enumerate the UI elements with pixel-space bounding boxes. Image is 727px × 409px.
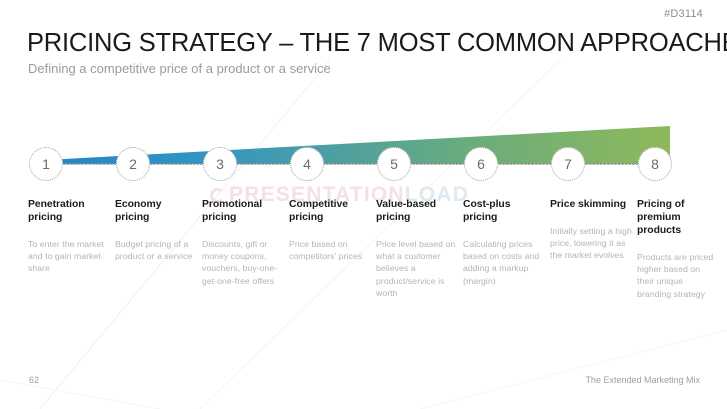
step-column-3: Promotional pricing Discounts, gift or m…: [202, 198, 284, 287]
step-number-3: 3: [216, 156, 224, 172]
step-circle-7[interactable]: 7: [551, 147, 585, 181]
step-column-4: Competitive pricing Price based on compe…: [289, 198, 371, 262]
step-circle-6[interactable]: 6: [464, 147, 498, 181]
step-body-7: Initially setting a high price, lowering…: [550, 225, 632, 262]
step-number-4: 4: [303, 156, 311, 172]
footer-page-number: 62: [29, 375, 39, 385]
page-title: PRICING STRATEGY – THE 7 MOST COMMON APP…: [27, 28, 727, 58]
step-number-2: 2: [129, 156, 137, 172]
document-code: #D3114: [664, 8, 703, 20]
footer-note: The Extended Marketing Mix: [585, 375, 700, 385]
step-number-8: 8: [651, 156, 659, 172]
step-number-7: 7: [564, 156, 572, 172]
step-body-8: Products are priced higher based on thei…: [637, 251, 719, 300]
step-body-4: Price based on competitors’ prices: [289, 238, 371, 262]
step-circle-1[interactable]: 1: [29, 147, 63, 181]
step-circle-4[interactable]: 4: [290, 147, 324, 181]
step-body-5: Price level based on what a customer bel…: [376, 238, 458, 299]
step-heading-6: Cost-plus pricing: [463, 198, 545, 224]
step-heading-4: Competitive pricing: [289, 198, 371, 224]
step-heading-3: Promotional pricing: [202, 198, 284, 224]
step-heading-7: Price skimming: [550, 198, 632, 211]
step-columns: Penetration pricing To enter the market …: [0, 198, 727, 348]
step-circle-8[interactable]: 8: [638, 147, 672, 181]
step-heading-2: Economy pricing: [115, 198, 197, 224]
step-column-2: Economy pricing Budget pricing of a prod…: [115, 198, 197, 262]
step-column-5: Value-based pricing Price level based on…: [376, 198, 458, 299]
gradient-wedge-timeline: [0, 112, 727, 190]
step-column-8: Pricing of premium products Products are…: [637, 198, 719, 300]
slide-canvas: #D3114 PRICING STRATEGY – THE 7 MOST COM…: [0, 0, 727, 409]
step-number-6: 6: [477, 156, 485, 172]
step-body-1: To enter the market and to gain market s…: [28, 238, 110, 275]
page-subtitle: Defining a competitive price of a produc…: [28, 60, 331, 77]
step-column-1: Penetration pricing To enter the market …: [28, 198, 110, 275]
step-heading-8: Pricing of premium products: [637, 198, 719, 237]
step-body-2: Budget pricing of a product or a service: [115, 238, 197, 262]
step-circle-3[interactable]: 3: [203, 147, 237, 181]
step-column-6: Cost-plus pricing Calculating prices bas…: [463, 198, 545, 287]
step-number-5: 5: [390, 156, 398, 172]
step-heading-1: Penetration pricing: [28, 198, 110, 224]
step-column-7: Price skimming Initially setting a high …: [550, 198, 632, 262]
step-body-3: Discounts, gift or money coupons, vouche…: [202, 238, 284, 287]
step-circle-5[interactable]: 5: [377, 147, 411, 181]
step-number-1: 1: [42, 156, 50, 172]
step-body-6: Calculating prices based on costs and ad…: [463, 238, 545, 287]
step-circle-2[interactable]: 2: [116, 147, 150, 181]
step-heading-5: Value-based pricing: [376, 198, 458, 224]
